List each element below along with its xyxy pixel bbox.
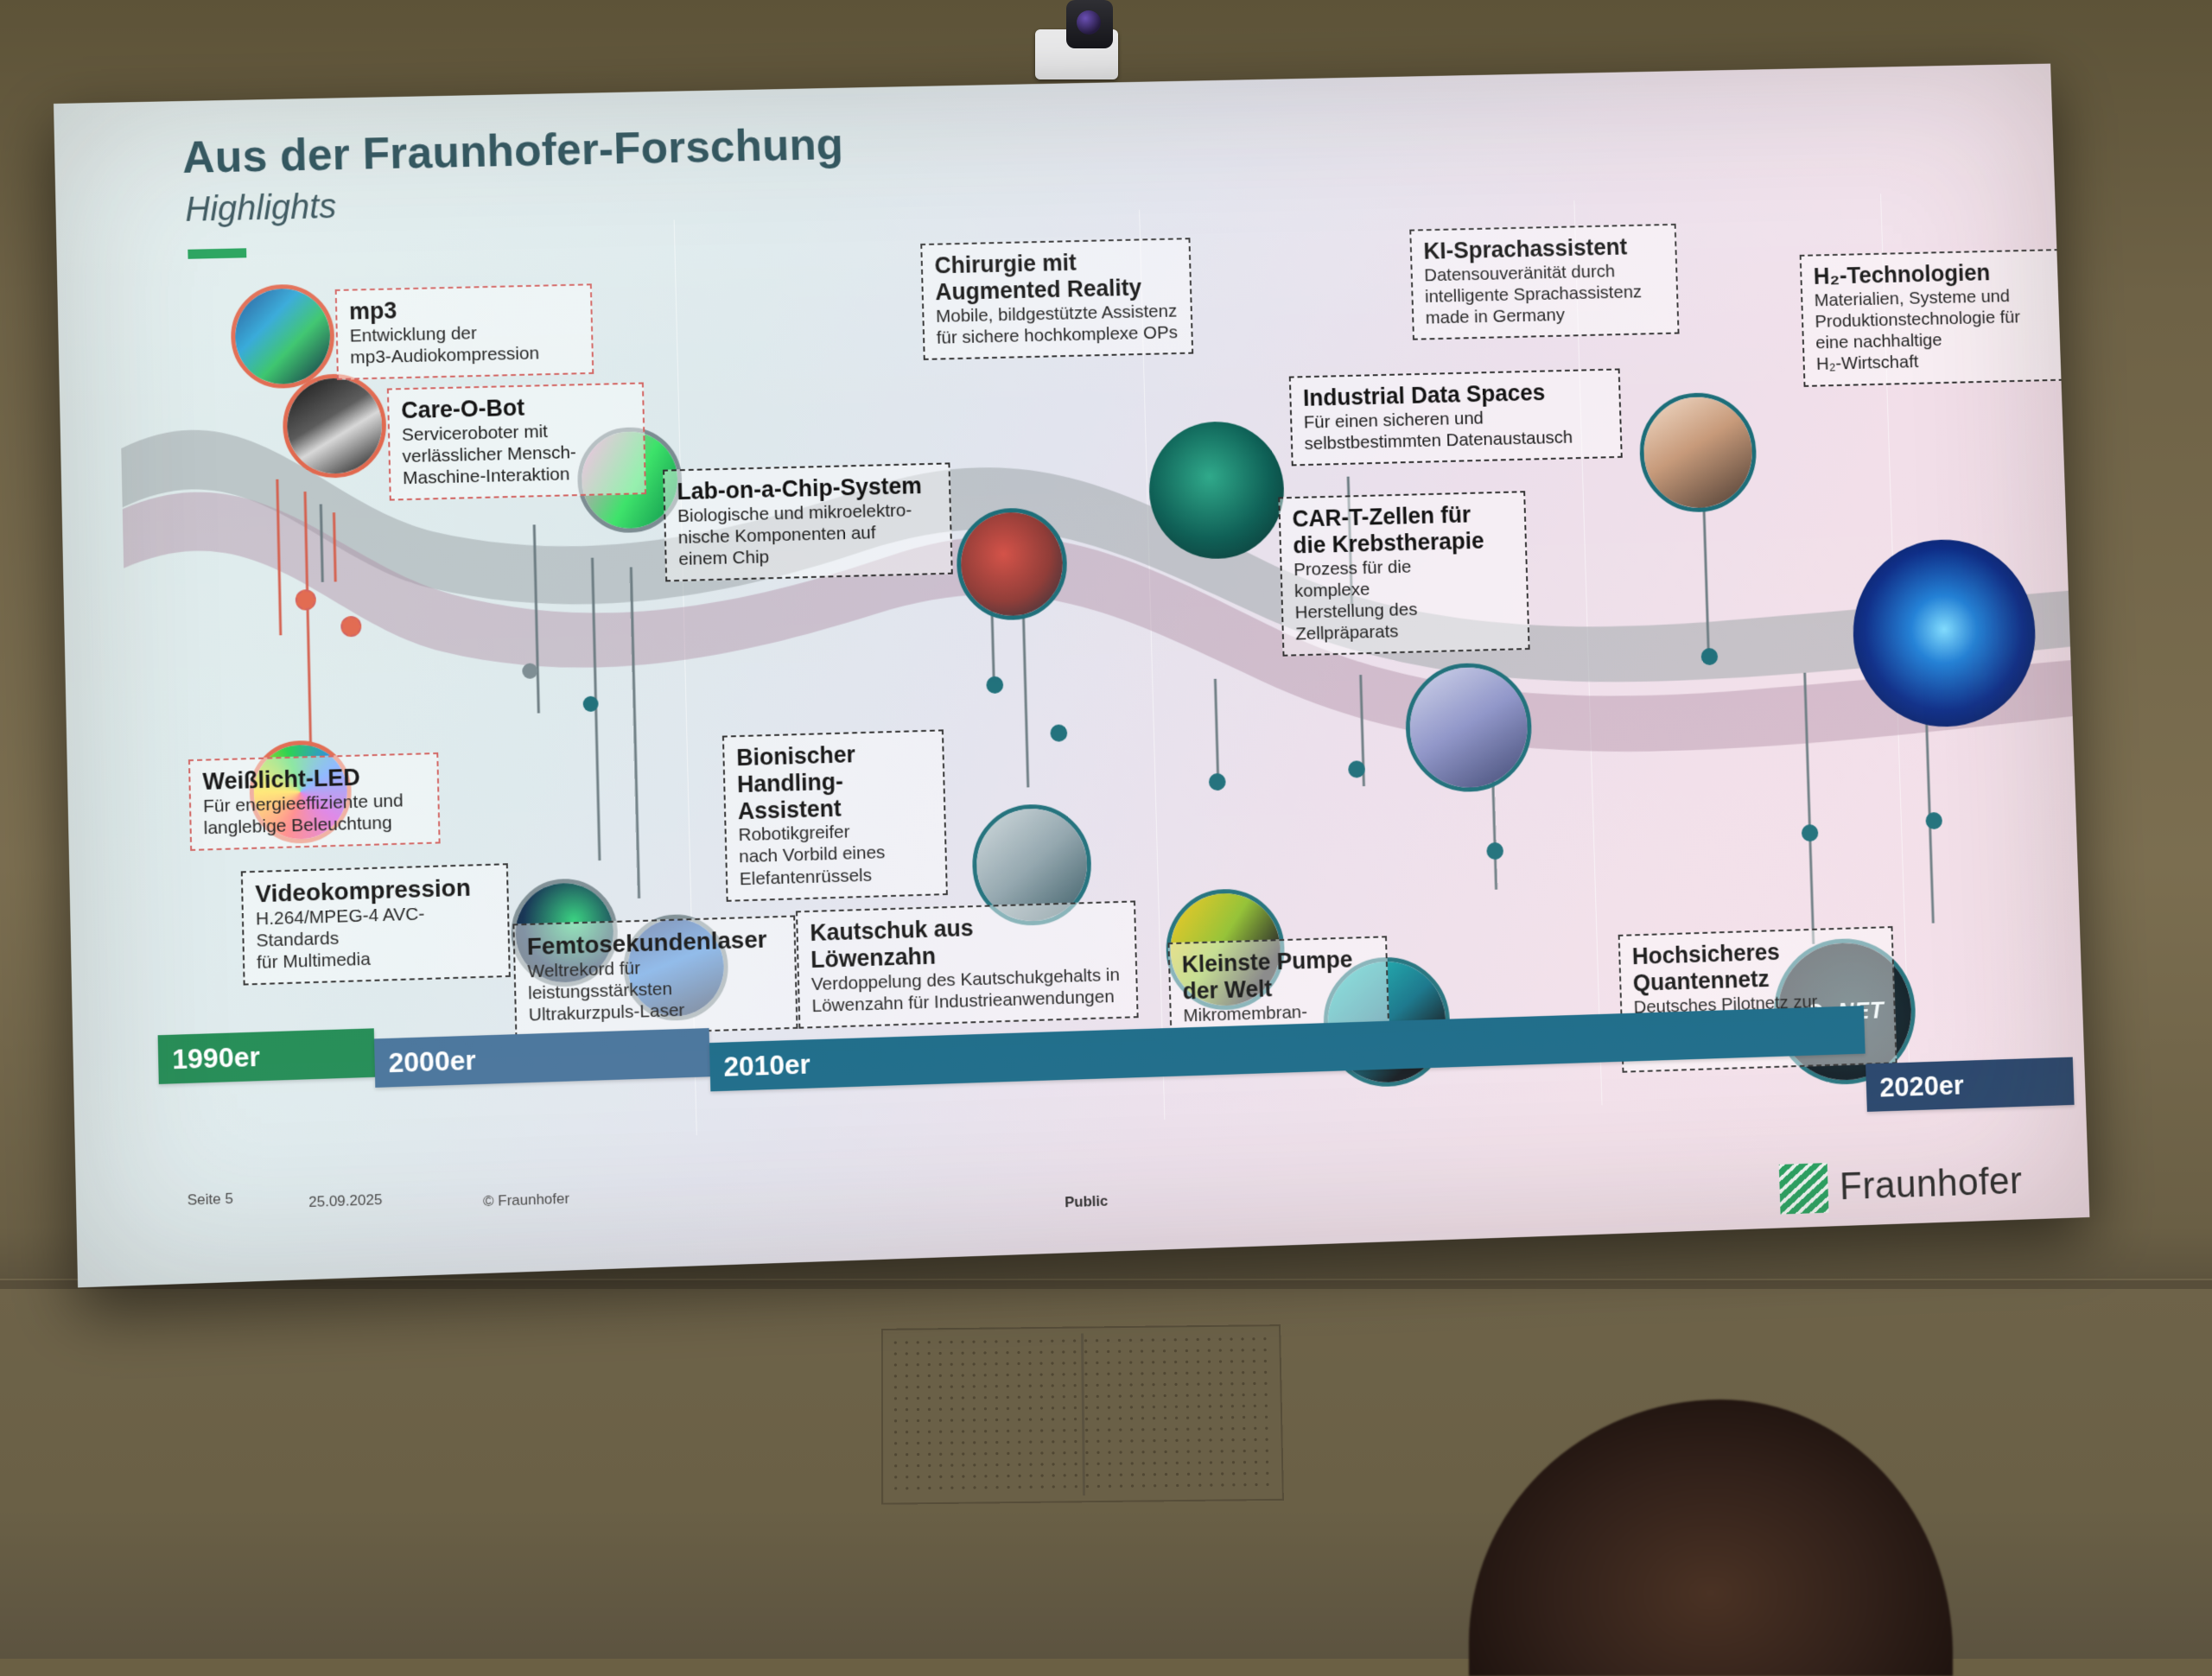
callout-bionischer-handling-assistent[interactable]: Bionischer Handling- Assistent Robotikgr… [722,729,948,901]
callout-ki-sprachassistent-desc: Datensouveränität durch intelligente Spr… [1424,259,1666,329]
callout-lab-on-a-chip[interactable]: Lab-on-a-Chip-System Biologische und mik… [663,462,953,581]
callout-kleinste-pumpe-title: Kleinste Pumpe der Welt [1181,946,1375,1005]
lab-technician-photo [1404,662,1534,794]
decade-bar-2020er[interactable]: 2020er [1866,1057,2075,1112]
callout-h2-technologien[interactable]: H₂-Technologien Materialien, Systeme und… [1800,249,2064,386]
fraunhofer-logo: Fraunhofer [1779,1150,2071,1220]
callout-chirurgie-mit-augmented-reality[interactable]: Chirurgie mit Augmented Reality Mobile, … [920,238,1193,360]
callout-videokompression-desc: H.264/MPEG-4 AVC-Standards für Multimedi… [256,901,497,974]
callout-kautschuk-aus-loewenzahn-desc: Verdoppelung des Kautschukgehalts in Löw… [811,963,1125,1017]
callout-femtosekundenlaser-desc: Weltrekord für leistungsstärksten Ultrak… [527,953,784,1026]
fraunhofer-logo-text: Fraunhofer [1839,1159,2023,1209]
callout-ki-sprachassistent-title: KI-Sprachassistent [1423,233,1663,264]
room-background: Aus der Fraunhofer-Forschung Highlights [0,0,2212,1659]
mp3-player-photo [230,283,335,390]
callout-industrial-data-spaces[interactable]: Industrial Data Spaces Für einen sichere… [1289,368,1623,466]
liver-model-photo [956,507,1069,622]
decade-label-2020er: 2020er [1879,1069,1965,1103]
callout-chirurgie-mit-augmented-reality-desc: Mobile, bildgestützte Assistenz für sich… [936,300,1179,348]
decade-label-2010er: 2010er [723,1048,810,1082]
decade-label-2000er: 2000er [388,1044,476,1079]
callout-mp3-desc: Entwicklung der mp3-Audiokompression [349,320,580,368]
presentation-slide: Aus der Fraunhofer-Forschung Highlights [54,64,2089,1288]
decade-label-1990er: 1990er [172,1040,260,1076]
projection-screen: Aus der Fraunhofer-Forschung Highlights [54,64,2089,1288]
callout-h2-technologien-desc: Materialien, Systeme und Produktionstech… [1814,284,2050,375]
wall-trim [0,1280,2212,1289]
data-network-tree-photo [1147,420,1286,560]
callout-car-t-zellen[interactable]: CAR-T-Zellen für die Krebstherapie Proze… [1278,491,1529,657]
room-camera [1020,0,1132,82]
page-subtitle: Highlights [185,187,337,230]
callout-care-o-bot[interactable]: Care-O-Bot Serviceroboter mit verlässlic… [387,382,646,500]
callout-femtosekundenlaser[interactable]: Femtosekundenlaser Weltrekord für leistu… [512,915,798,1038]
hydrogen-sphere-photo [1850,537,2038,729]
callout-hochsicheres-quantennetz-title: Hochsicheres Quantennetz [1631,936,1881,996]
callout-mp3[interactable]: mp3 Entwicklung der mp3-Audiokompression [335,283,594,380]
callout-bionischer-handling-assistent-desc: Robotikgreifer nach Vorbild eines Elefan… [738,819,934,890]
care-o-bot-photo [282,373,387,479]
voice-assistant-photo [1638,391,1758,513]
callout-kautschuk-aus-loewenzahn-title: Kautschuk aus Löwenzahn [810,911,1123,974]
callout-car-t-zellen-title: CAR-T-Zellen für die Krebstherapie [1292,500,1514,558]
callout-care-o-bot-desc: Serviceroboter mit verlässlicher Mensch-… [402,418,632,489]
footer-copyright: © Fraunhofer [483,1190,569,1211]
callout-chirurgie-mit-augmented-reality-title: Chirurgie mit Augmented Reality [934,247,1179,305]
footer-page-number: Seite 5 [188,1190,234,1209]
callout-kautschuk-aus-loewenzahn[interactable]: Kautschuk aus Löwenzahn Verdoppelung des… [796,900,1139,1028]
callout-weisslicht-led-desc: Für energieeffiziente und langlebige Bel… [203,789,427,839]
callout-videokompression[interactable]: Videokompression H.264/MPEG-4 AVC-Standa… [241,863,511,986]
callout-lab-on-a-chip-desc: Biologische und mikroelektro- nische Kom… [677,498,939,570]
callout-car-t-zellen-desc: Prozess für die komplexe Herstellung des… [1294,553,1516,645]
accent-rule [188,248,246,258]
fraunhofer-logo-icon [1779,1163,1829,1215]
callout-ki-sprachassistent[interactable]: KI-Sprachassistent Datensouveränität dur… [1409,224,1679,340]
callout-bionischer-handling-assistent-title: Bionischer Handling- Assistent [736,740,932,825]
callout-industrial-data-spaces-desc: Für einen sicheren und selbstbestimmten … [1304,404,1609,454]
callout-weisslicht-led[interactable]: Weißlicht-LED Für energieeffiziente und … [188,752,441,851]
decade-bar-1990er[interactable]: 1990er [158,1028,375,1084]
footer-classification: Public [1065,1193,1109,1212]
wall-vent [881,1324,1284,1505]
footer-date: 25.09.2025 [308,1191,383,1211]
